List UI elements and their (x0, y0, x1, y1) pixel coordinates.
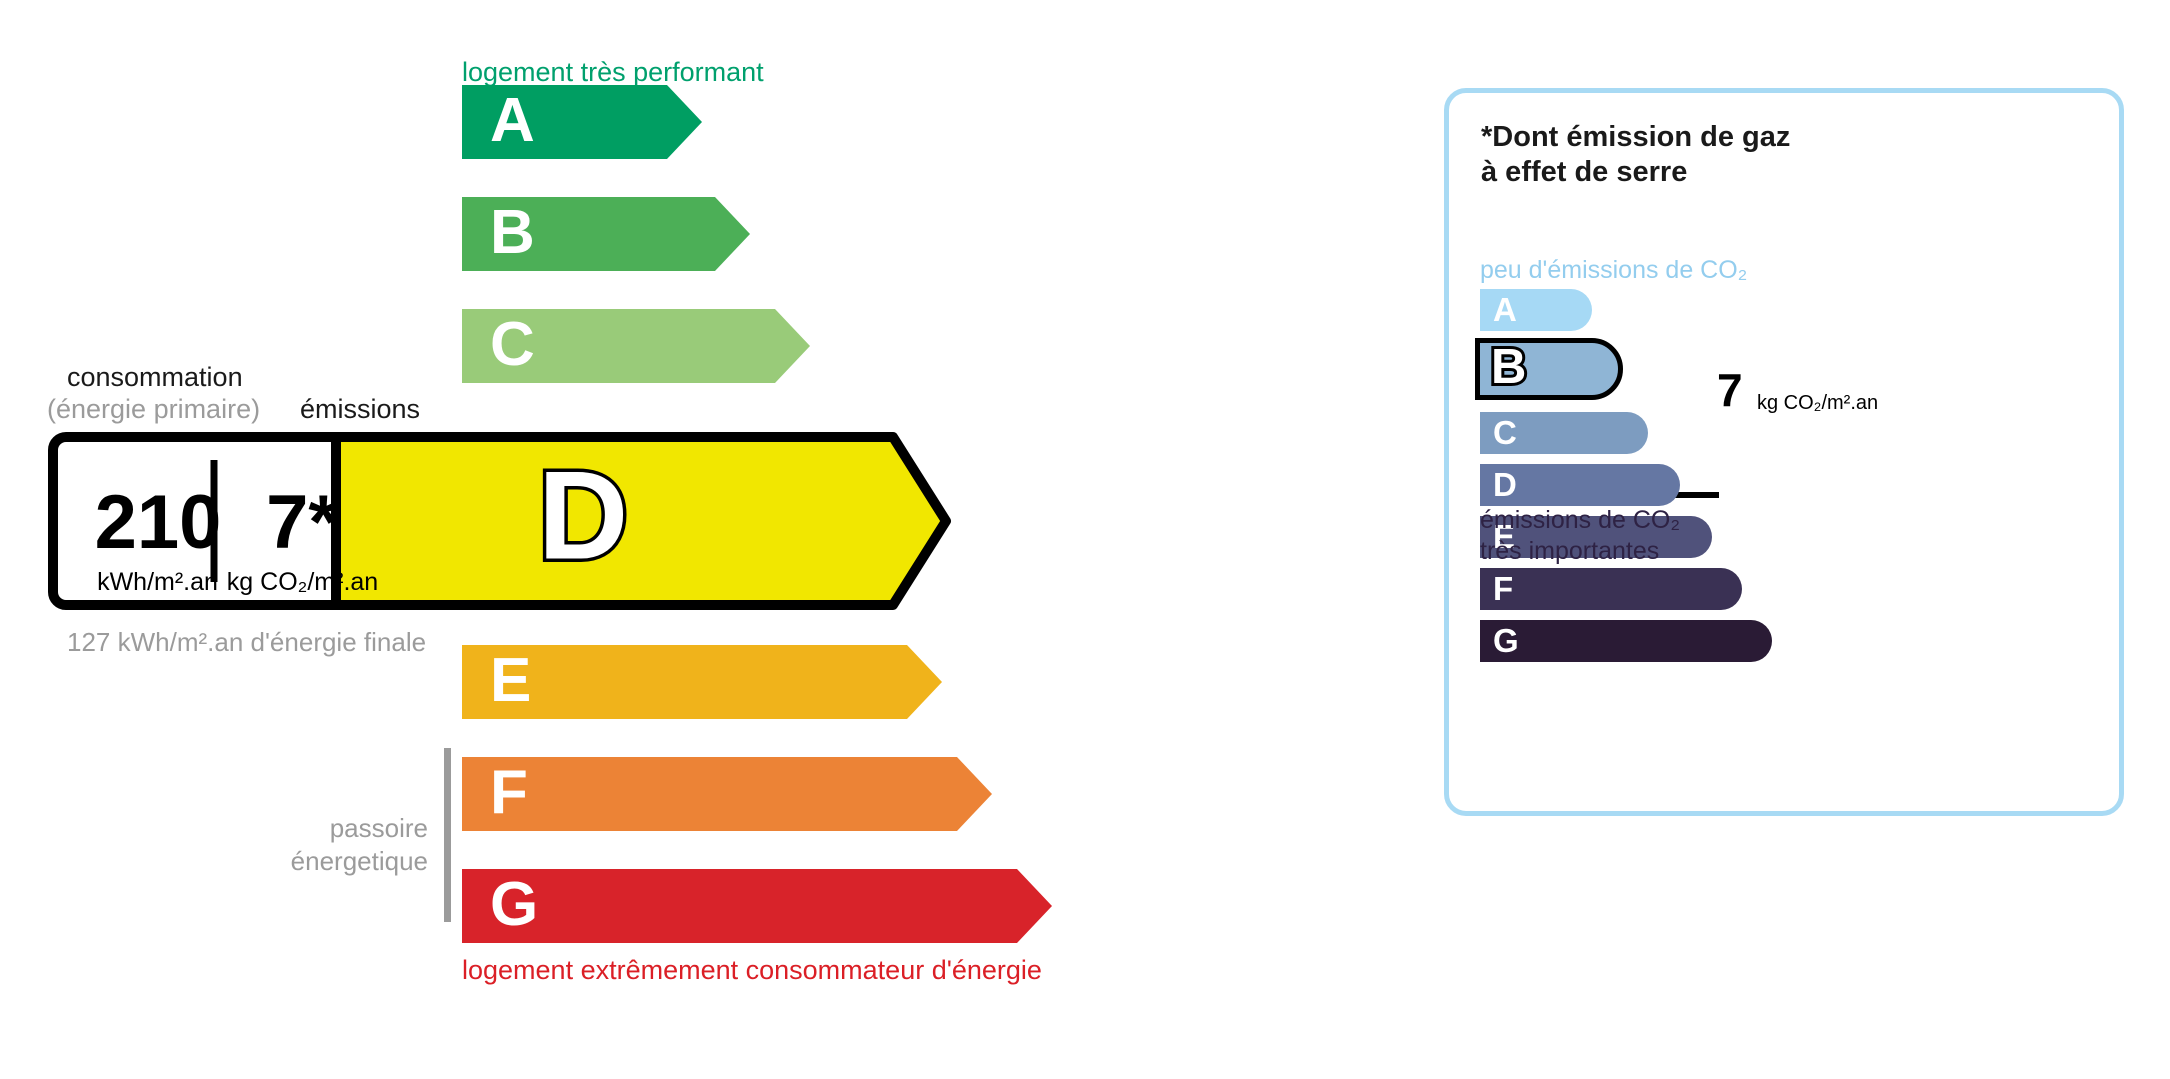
co2-bar-letter-a: A (1493, 293, 1517, 326)
co2-bar-letter-c: C (1493, 416, 1517, 449)
scale-bottom-label: logement extrêmement consommateur d'éner… (462, 955, 1042, 986)
band-arrow-g (462, 869, 1052, 943)
final-energy-note: 127 kWh/m².an d'énergie finale (67, 626, 426, 659)
co2-bar-letter-b: B (1491, 343, 1526, 392)
label-consumption-sub: (énergie primaire) (47, 394, 260, 424)
emission-unit: kg CO₂/m².an (210, 570, 395, 595)
energy-scale: logement très performant A B C (0, 0, 1400, 1079)
emission-value: 7* (222, 485, 382, 561)
energy-band-c: C (462, 309, 810, 383)
co2-bottom-label: émissions de CO₂ très importantes (1480, 505, 1680, 567)
co2-callout-unit: kg CO₂/m².an (1757, 393, 1878, 413)
energy-band-f: F (462, 757, 992, 831)
dpe-infographic: logement très performant A B C (0, 0, 2170, 1079)
passoire-bracket (444, 748, 451, 922)
energy-band-b: B (462, 197, 750, 271)
band-arrow-e (462, 645, 942, 719)
co2-bar-letter-f: F (1493, 572, 1513, 605)
energy-band-a: A (462, 85, 702, 159)
passoire-label: passoire énergetique (283, 812, 428, 879)
energy-band-g: G (462, 869, 1052, 943)
energy-band-letter-d: D (538, 454, 628, 579)
co2-panel-title: *Dont émission de gaz à effet de serre (1481, 120, 1790, 191)
label-consumption: consommation (67, 362, 243, 392)
co2-bar-g: G (1480, 620, 1772, 662)
band-arrow-c (462, 309, 810, 383)
co2-bar-letter-d: D (1493, 468, 1517, 501)
scale-top-label: logement très performant (462, 57, 764, 88)
co2-bar-b-selected: B (1475, 338, 1623, 400)
co2-bar-a: A (1480, 289, 1592, 331)
co2-bar-f: F (1480, 568, 1742, 610)
band-arrow-b (462, 197, 750, 271)
co2-top-label: peu d'émissions de CO₂ (1480, 256, 1747, 285)
co2-bar-c: C (1480, 412, 1648, 454)
co2-bar-d: D (1480, 464, 1680, 506)
band-arrow-f (462, 757, 992, 831)
co2-panel: *Dont émission de gaz à effet de serre p… (1444, 88, 2124, 816)
energy-band-e: E (462, 645, 942, 719)
consumption-value: 210 (68, 485, 248, 561)
co2-bar-letter-g: G (1493, 624, 1519, 657)
band-arrow-a (462, 85, 702, 159)
co2-callout-value: 7 (1717, 367, 1743, 413)
label-emissions: émissions (300, 394, 420, 424)
